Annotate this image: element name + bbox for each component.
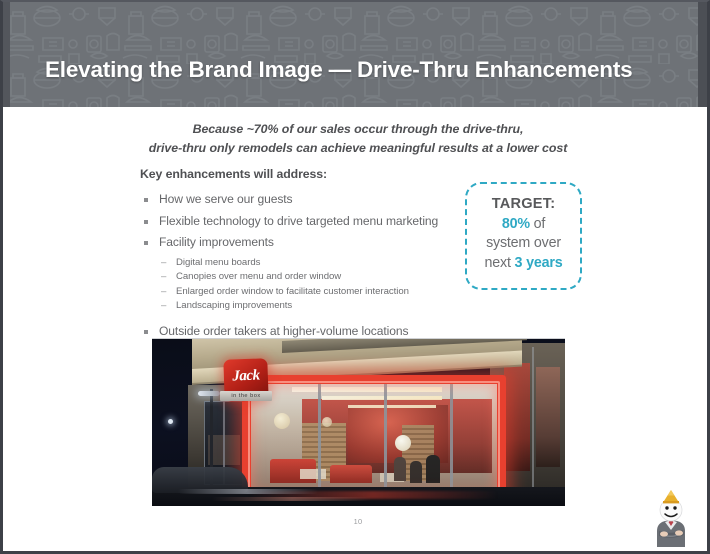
parking-lot-lamp-icon bbox=[198, 391, 220, 396]
target-label: TARGET: bbox=[467, 195, 580, 215]
restaurant-photo: Jack in the box bbox=[152, 338, 565, 506]
dash-bullet-icon: – bbox=[161, 256, 166, 271]
square-bullet-icon bbox=[144, 330, 148, 334]
target-callout-text: TARGET: 80% of system over next 3 years bbox=[467, 184, 580, 273]
square-bullet-icon bbox=[144, 241, 148, 245]
sub-bullet-item-1-label: Digital menu boards bbox=[176, 257, 260, 268]
sub-bullet-item-3-label: Enlarged order window to facilitate cust… bbox=[176, 286, 409, 297]
bullet-item-4-label: Outside order takers at higher-volume lo… bbox=[159, 324, 408, 338]
sub-bullet-list: – Digital menu boards – Canopies over me… bbox=[140, 256, 460, 314]
bullet-item-3: Facility improvements bbox=[140, 232, 460, 254]
slide-subtitle: Because ~70% of our sales occur through … bbox=[3, 120, 710, 157]
target-duration: 3 years bbox=[515, 255, 563, 271]
header-pattern-icon bbox=[3, 2, 710, 107]
dash-bullet-icon: – bbox=[161, 299, 166, 314]
square-bullet-icon bbox=[144, 220, 148, 224]
sign-jack-text: Jack bbox=[228, 366, 265, 385]
dash-bullet-icon: – bbox=[161, 270, 166, 285]
slide-header: Elevating the Brand Image — Drive-Thru E… bbox=[3, 2, 710, 107]
sub-bullet-item-4: – Landscaping improvements bbox=[140, 299, 460, 314]
dash-bullet-icon: – bbox=[161, 285, 166, 300]
bullet-item-1: How we serve our guests bbox=[140, 189, 460, 211]
bullet-item-3-label: Facility improvements bbox=[159, 235, 274, 249]
sign-in-the-box-text: in the box bbox=[220, 391, 272, 401]
target-callout-box: TARGET: 80% of system over next 3 years bbox=[465, 182, 582, 290]
building-right-mullion bbox=[532, 347, 534, 493]
sub-bullet-item-3: – Enlarged order window to facilitate cu… bbox=[140, 285, 460, 300]
sub-bullet-item-1: – Digital menu boards bbox=[140, 256, 460, 271]
bullet-lead-in: Key enhancements will address: bbox=[140, 167, 460, 181]
bullet-item-2: Flexible technology to drive targeted me… bbox=[140, 211, 460, 233]
subtitle-line-2: drive-thru only remodels can achieve mea… bbox=[3, 139, 710, 158]
target-percent: 80% bbox=[502, 216, 530, 232]
bullet-item-1-label: How we serve our guests bbox=[159, 192, 292, 206]
light-streak-1 bbox=[178, 489, 318, 494]
bullet-list: Key enhancements will address: How we se… bbox=[140, 167, 460, 342]
sub-bullet-item-2-label: Canopies over menu and order window bbox=[176, 271, 341, 282]
page-title: Elevating the Brand Image — Drive-Thru E… bbox=[45, 57, 632, 83]
target-next-word: next bbox=[485, 255, 515, 271]
page-number: 10 bbox=[3, 517, 710, 526]
distant-light-icon bbox=[168, 419, 173, 424]
header-left-edge bbox=[3, 2, 10, 107]
sub-bullet-item-4-label: Landscaping improvements bbox=[176, 300, 292, 311]
header-right-edge bbox=[698, 2, 710, 107]
light-streak-2 bbox=[212, 497, 372, 501]
subtitle-line-1: Because ~70% of our sales occur through … bbox=[193, 122, 524, 136]
bullet-item-2-label: Flexible technology to drive targeted me… bbox=[159, 214, 438, 228]
square-bullet-icon bbox=[144, 198, 148, 202]
building-right-window-1 bbox=[504, 363, 530, 471]
sub-bullet-item-2: – Canopies over menu and order window bbox=[140, 270, 460, 285]
red-frame-highlight bbox=[248, 381, 500, 497]
target-middle-text: system over bbox=[486, 235, 561, 251]
target-of-word: of bbox=[530, 216, 545, 232]
jack-mascot-logo-icon bbox=[648, 489, 694, 547]
building-right-window-2 bbox=[536, 367, 560, 467]
presentation-slide: Elevating the Brand Image — Drive-Thru E… bbox=[0, 0, 710, 554]
